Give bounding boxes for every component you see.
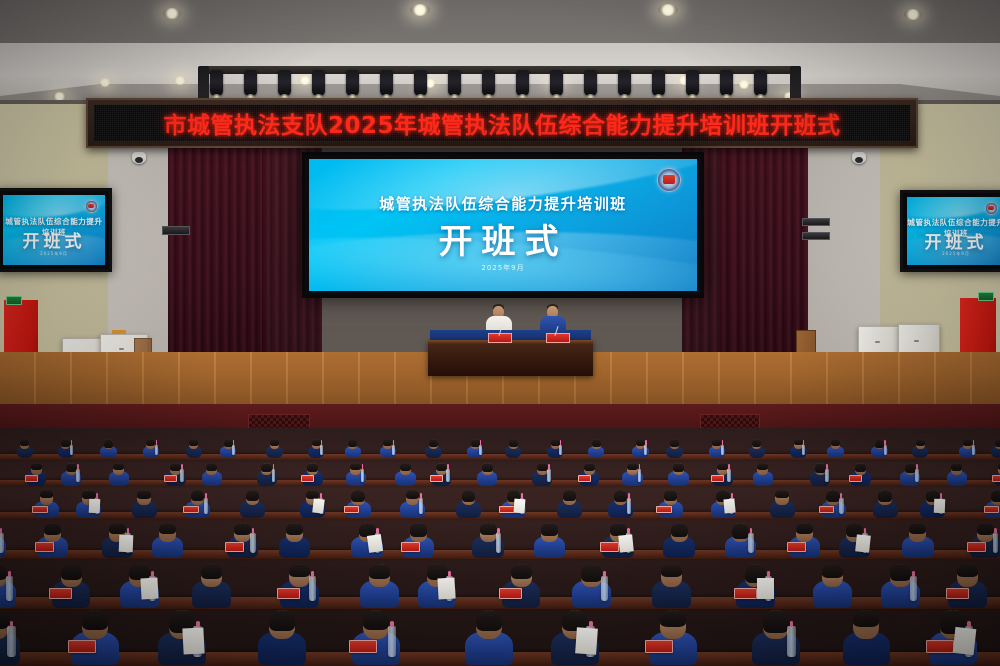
audience-member-hair [951,463,962,471]
water-bottle [361,469,365,482]
participant-name-card [656,506,672,514]
audience-member-hair [482,463,493,472]
document-sheet [953,627,977,655]
audience-member-hair [170,463,181,471]
audience-member [369,564,390,612]
document-sheet [312,499,324,514]
side-monitor-right: 城管执法队伍综合能力提升培训班 开班式 2025年9月 [900,190,1000,272]
stage-spotlight-10 [550,70,563,96]
participant-name-card [344,506,360,514]
stage-spotlight-4 [346,70,359,96]
audience-member-hair [537,463,548,471]
audience-member-hair [104,439,113,447]
audience-seating [0,428,1000,666]
audience-member-hair [40,490,54,498]
side-slide-left: 城管执法队伍综合能力提升培训班 开班式 2025年9月 [3,195,105,265]
audience-member-hair [511,564,532,580]
audience-member [909,523,926,562]
document-sheet [140,578,158,600]
audience-member-hair [581,564,602,582]
document-sheet [933,499,944,513]
audience-member [509,439,518,460]
cabinet-top-box-left [112,330,126,334]
audience-member-hair [660,610,686,627]
stage-spotlight-5 [380,70,393,96]
stage-spotlight-6 [414,70,427,96]
audience-member-hair [673,463,684,472]
audience-member-hair [286,523,303,536]
water-bottle [7,626,15,657]
participant-name-card [499,588,522,599]
document-sheet [89,499,100,513]
audience-member-hair [137,490,151,499]
participant-name-card [787,542,806,551]
participant-name-card [183,506,199,514]
water-bottle [721,445,724,456]
audience-member-hair [270,439,279,445]
audience-member [363,610,389,666]
water-bottle [839,498,843,514]
audience-member [206,463,217,488]
audience-member-hair [363,610,389,630]
audience-member-hair [109,523,126,534]
audience-member [815,463,826,488]
audience-member-hair [146,439,155,446]
cabinet-handle [875,341,880,343]
audience-member [66,463,77,488]
audience-member-hair [822,564,843,578]
water-bottle [180,469,184,482]
audience-member [757,463,768,488]
water-bottle [392,445,395,456]
audience-member-hair [712,439,721,446]
water-bottle [6,576,13,601]
water-bottle [250,533,256,553]
audience-member-hair [113,463,124,470]
audience-member-hair [206,463,217,471]
head-table-nameplate-left [488,333,512,343]
audience-member-hair [995,439,1000,447]
audience-member [20,439,29,460]
document-sheet [757,578,774,599]
audience-member-hair [905,463,916,473]
conference-hall-photo: 市城管执法支队2025年城管执法队伍综合能力提升培训班开班式 城管执法队伍综合能… [0,0,1000,666]
audience-member [890,564,911,612]
participant-name-card [578,475,591,482]
audience-member [104,439,113,460]
water-bottle [232,445,235,456]
audience-member [261,463,272,488]
security-camera-icon-right [852,152,866,164]
audience-member [581,564,602,612]
document-sheet [118,535,132,552]
document-sheet [723,499,735,513]
stage-spotlight-9 [516,70,529,96]
document-sheet [855,534,870,552]
main-projection-screen: 城管执法队伍综合能力提升培训班 开班式 2025年9月 [302,152,704,298]
audience-member [732,523,749,562]
exit-sign-right-icon [978,292,994,301]
audience-member-hair [592,439,601,447]
audience-member [350,463,361,488]
audience-member-hair [246,490,260,501]
audience-member [763,610,789,666]
audience-member [146,439,155,460]
audience-member-hair [383,439,392,446]
audience-member-hair [61,564,82,580]
audience-member-hair [261,463,272,472]
participant-name-card [849,475,862,482]
side-left-headline: 开班式 [3,227,105,252]
water-bottle [644,445,647,456]
participant-name-card [984,506,1000,514]
audience-member [61,439,70,460]
audience-member-hair [757,463,768,470]
participant-name-card [164,475,177,482]
audience-member-hair [855,463,866,473]
water-bottle [825,469,829,482]
audience-member-hair [410,523,427,537]
participant-name-card [49,588,72,599]
cabinet-handle [914,340,919,342]
participant-name-card [401,542,420,551]
audience-member-hair [732,523,749,539]
led-banner-text: 市城管执法支队2025年城管执法队伍综合能力提升培训班开班式 [163,106,840,140]
audience-member-hair [191,490,205,502]
water-bottle [419,498,423,514]
audience-member [752,439,761,460]
audience-member [201,564,222,612]
document-sheet [575,628,598,655]
document-sheet [514,499,526,513]
audience-member [673,463,684,488]
water-bottle [76,469,80,482]
water-bottle [802,445,805,456]
audience-member [614,490,628,521]
audience-member-hair [664,490,678,501]
audience-member [592,439,601,460]
audience-member-hair [853,610,879,626]
audience-member-hair [627,463,638,470]
water-bottle [915,469,919,482]
audience-member-hair [878,490,892,502]
water-bottle [748,533,754,553]
audience-member [670,439,679,460]
audience-member-hair [916,439,925,446]
audience-member-hair [400,463,411,472]
audience-member-hair [670,439,679,446]
audience-member-hair [159,523,176,535]
audience-member [189,439,198,460]
audience-member-hair [307,463,318,472]
audience-member-hair [661,564,682,577]
led-screen: 市城管执法支队2025年城管执法队伍综合能力提升培训班开班式 [94,105,910,141]
participant-name-card [25,475,38,482]
stage-spotlight-7 [448,70,461,96]
audience-member-hair [796,523,813,534]
water-bottle [910,576,917,601]
audience-member [853,610,879,666]
participant-name-card [35,542,54,551]
audience-member-hair [289,564,310,578]
side-monitor-left: 城管执法队伍综合能力提升培训班 开班式 2025年9月 [0,188,112,272]
participant-name-card [645,640,673,653]
audience-member-hair [752,439,761,446]
audience-member-hair [826,490,840,502]
audience-member-hair [977,523,994,535]
audience-member [822,564,843,612]
water-bottle [155,445,158,456]
audience-member [563,490,577,521]
audience-member-hair [429,439,438,447]
main-slide: 城管执法队伍综合能力提升培训班 开班式 2025年9月 [309,159,697,291]
participant-name-card [992,475,1000,482]
audience-member-hair [436,463,447,472]
audience-member [270,439,279,460]
water-bottle [272,469,276,482]
audience-member-hair [351,490,365,502]
downlight-mid-7 [737,80,751,89]
wall-plate-left [162,226,190,235]
stage-spotlight-11 [584,70,597,96]
side-left-date: 2025年9月 [3,251,105,257]
audience-member-hair [763,610,789,633]
audience-member-hair [815,463,826,473]
stage-spotlight-2 [278,70,291,96]
water-bottle [884,445,887,456]
audience-member [627,463,638,488]
water-bottle [601,576,608,601]
audience-member [269,610,295,666]
audience-member [905,463,916,488]
document-sheet [367,534,383,553]
audience-member [537,463,548,488]
participant-name-card [349,640,377,653]
audience-member-hair [269,610,295,630]
water-bottle [309,576,316,601]
participant-name-card [819,506,835,514]
stage-spotlight-3 [312,70,325,96]
audience-member [712,439,721,460]
participant-name-card [277,588,300,599]
audience-member-hair [44,523,61,535]
audience-member [82,610,108,666]
audience-member-hair [476,610,502,631]
audience-member-hair [717,463,728,471]
water-bottle [559,445,562,456]
audience-member [661,564,682,612]
water-bottle [0,533,4,553]
audience-member [406,490,420,521]
audience-member [400,463,411,488]
audience-member [963,439,972,460]
wall-plate-right-2 [802,232,830,240]
audience-member [878,490,892,521]
audience-member [137,490,151,521]
head-table-nameplate-right [546,333,570,343]
audience-member-hair [20,439,29,446]
wall-plate-right-1 [802,218,830,226]
audience-member-hair [957,564,978,577]
main-slide-headline: 开班式 [309,214,697,263]
audience-member [286,523,303,562]
audience-member-hair [66,463,77,472]
audience-member-hair [406,490,420,499]
participant-name-card [225,542,244,551]
water-bottle [496,533,502,553]
audience-member [159,523,176,562]
audience-member-hair [563,490,577,501]
chengguan-emblem-icon [657,168,681,192]
cabinet-handle [119,348,124,350]
water-bottle [70,445,73,456]
audience-member-hair [369,564,390,579]
audience-member [462,490,476,521]
participant-name-card [926,640,954,653]
audience-member [775,490,789,521]
stage-spotlight-14 [686,70,699,96]
water-bottle [972,445,975,456]
audience-member-hair [348,439,357,447]
led-banner: 市城管执法支队2025年城管执法队伍综合能力提升培训班开班式 [86,98,918,148]
security-camera-icon-left [132,152,146,164]
water-bottle [479,445,482,456]
audience-member-hair [462,490,476,502]
water-bottle [993,533,999,553]
head-table [428,340,593,376]
participant-name-card [301,475,314,482]
audience-member-hair [82,610,108,629]
side-right-headline: 开班式 [907,228,1000,253]
document-sheet [618,534,633,552]
audience-member [246,490,260,521]
audience-member [348,439,357,460]
water-bottle [388,626,396,657]
audience-member-hair [775,490,789,498]
audience-member [482,463,493,488]
stage-spotlight-1 [244,70,257,96]
audience-member [480,523,497,562]
audience-member-hair [509,439,518,447]
participant-name-card [430,475,443,482]
audience-member-hair [890,564,911,581]
audience-member [660,610,686,666]
audience-member [429,439,438,460]
audience-member [831,439,840,460]
audience-member-hair [201,564,222,579]
stage-spotlight-8 [482,70,495,96]
audience-member-hair [875,439,884,447]
audience-member-hair [350,463,361,471]
stage-spotlight-15 [720,70,733,96]
water-bottle [727,469,731,482]
exit-sign-left-icon [6,296,22,305]
side-right-emblem-icon [985,202,998,215]
participant-name-card [734,588,757,599]
audience-member [476,610,502,666]
audience-member-hair [61,439,70,446]
audience-member-hair [909,523,926,535]
audience-member-hair [480,523,497,535]
document-sheet [182,628,204,655]
water-bottle [547,469,551,482]
audience-member [113,463,124,488]
participant-name-card [32,506,48,514]
downlight-top-1 [410,4,430,16]
audience-member [541,523,558,562]
audience-member-hair [794,439,803,445]
audience-member-hair [831,439,840,446]
water-bottle [446,469,450,482]
water-bottle [638,469,642,482]
audience-member-hair [963,439,972,446]
stage-spotlight-12 [618,70,631,96]
participant-name-card [68,640,96,653]
audience-member-hair [31,463,42,470]
audience-member [995,439,1000,460]
stage-spotlight-16 [754,70,767,96]
audience-member-hair [991,490,1000,502]
participant-name-card [600,542,619,551]
audience-member [383,439,392,460]
audience-member-hair [541,523,558,536]
water-bottle [320,445,323,456]
audience-member-hair [234,523,251,536]
water-bottle [204,498,208,514]
stage-spotlight-13 [652,70,665,96]
audience-member [916,439,925,460]
audience-member-hair [584,463,595,472]
participant-name-card [946,588,969,599]
audience-member [951,463,962,488]
document-sheet [437,578,455,600]
audience-member-hair [189,439,198,445]
main-slide-date: 2025年9月 [309,263,697,273]
main-slide-title: 城管执法队伍综合能力提升培训班 [309,193,697,214]
audience-member [875,439,884,460]
audience-member [671,523,688,562]
side-slide-right: 城管执法队伍综合能力提升培训班 开班式 2025年9月 [907,197,1000,265]
audience-member-hair [671,523,688,537]
audience-member-hair [614,490,628,503]
participant-name-card [711,475,724,482]
water-bottle [627,498,631,514]
side-left-emblem-icon [85,200,98,213]
side-right-date: 2025年9月 [907,251,1000,257]
stage-spotlight-0 [210,70,223,96]
participant-name-card [967,542,986,551]
water-bottle [787,626,795,657]
